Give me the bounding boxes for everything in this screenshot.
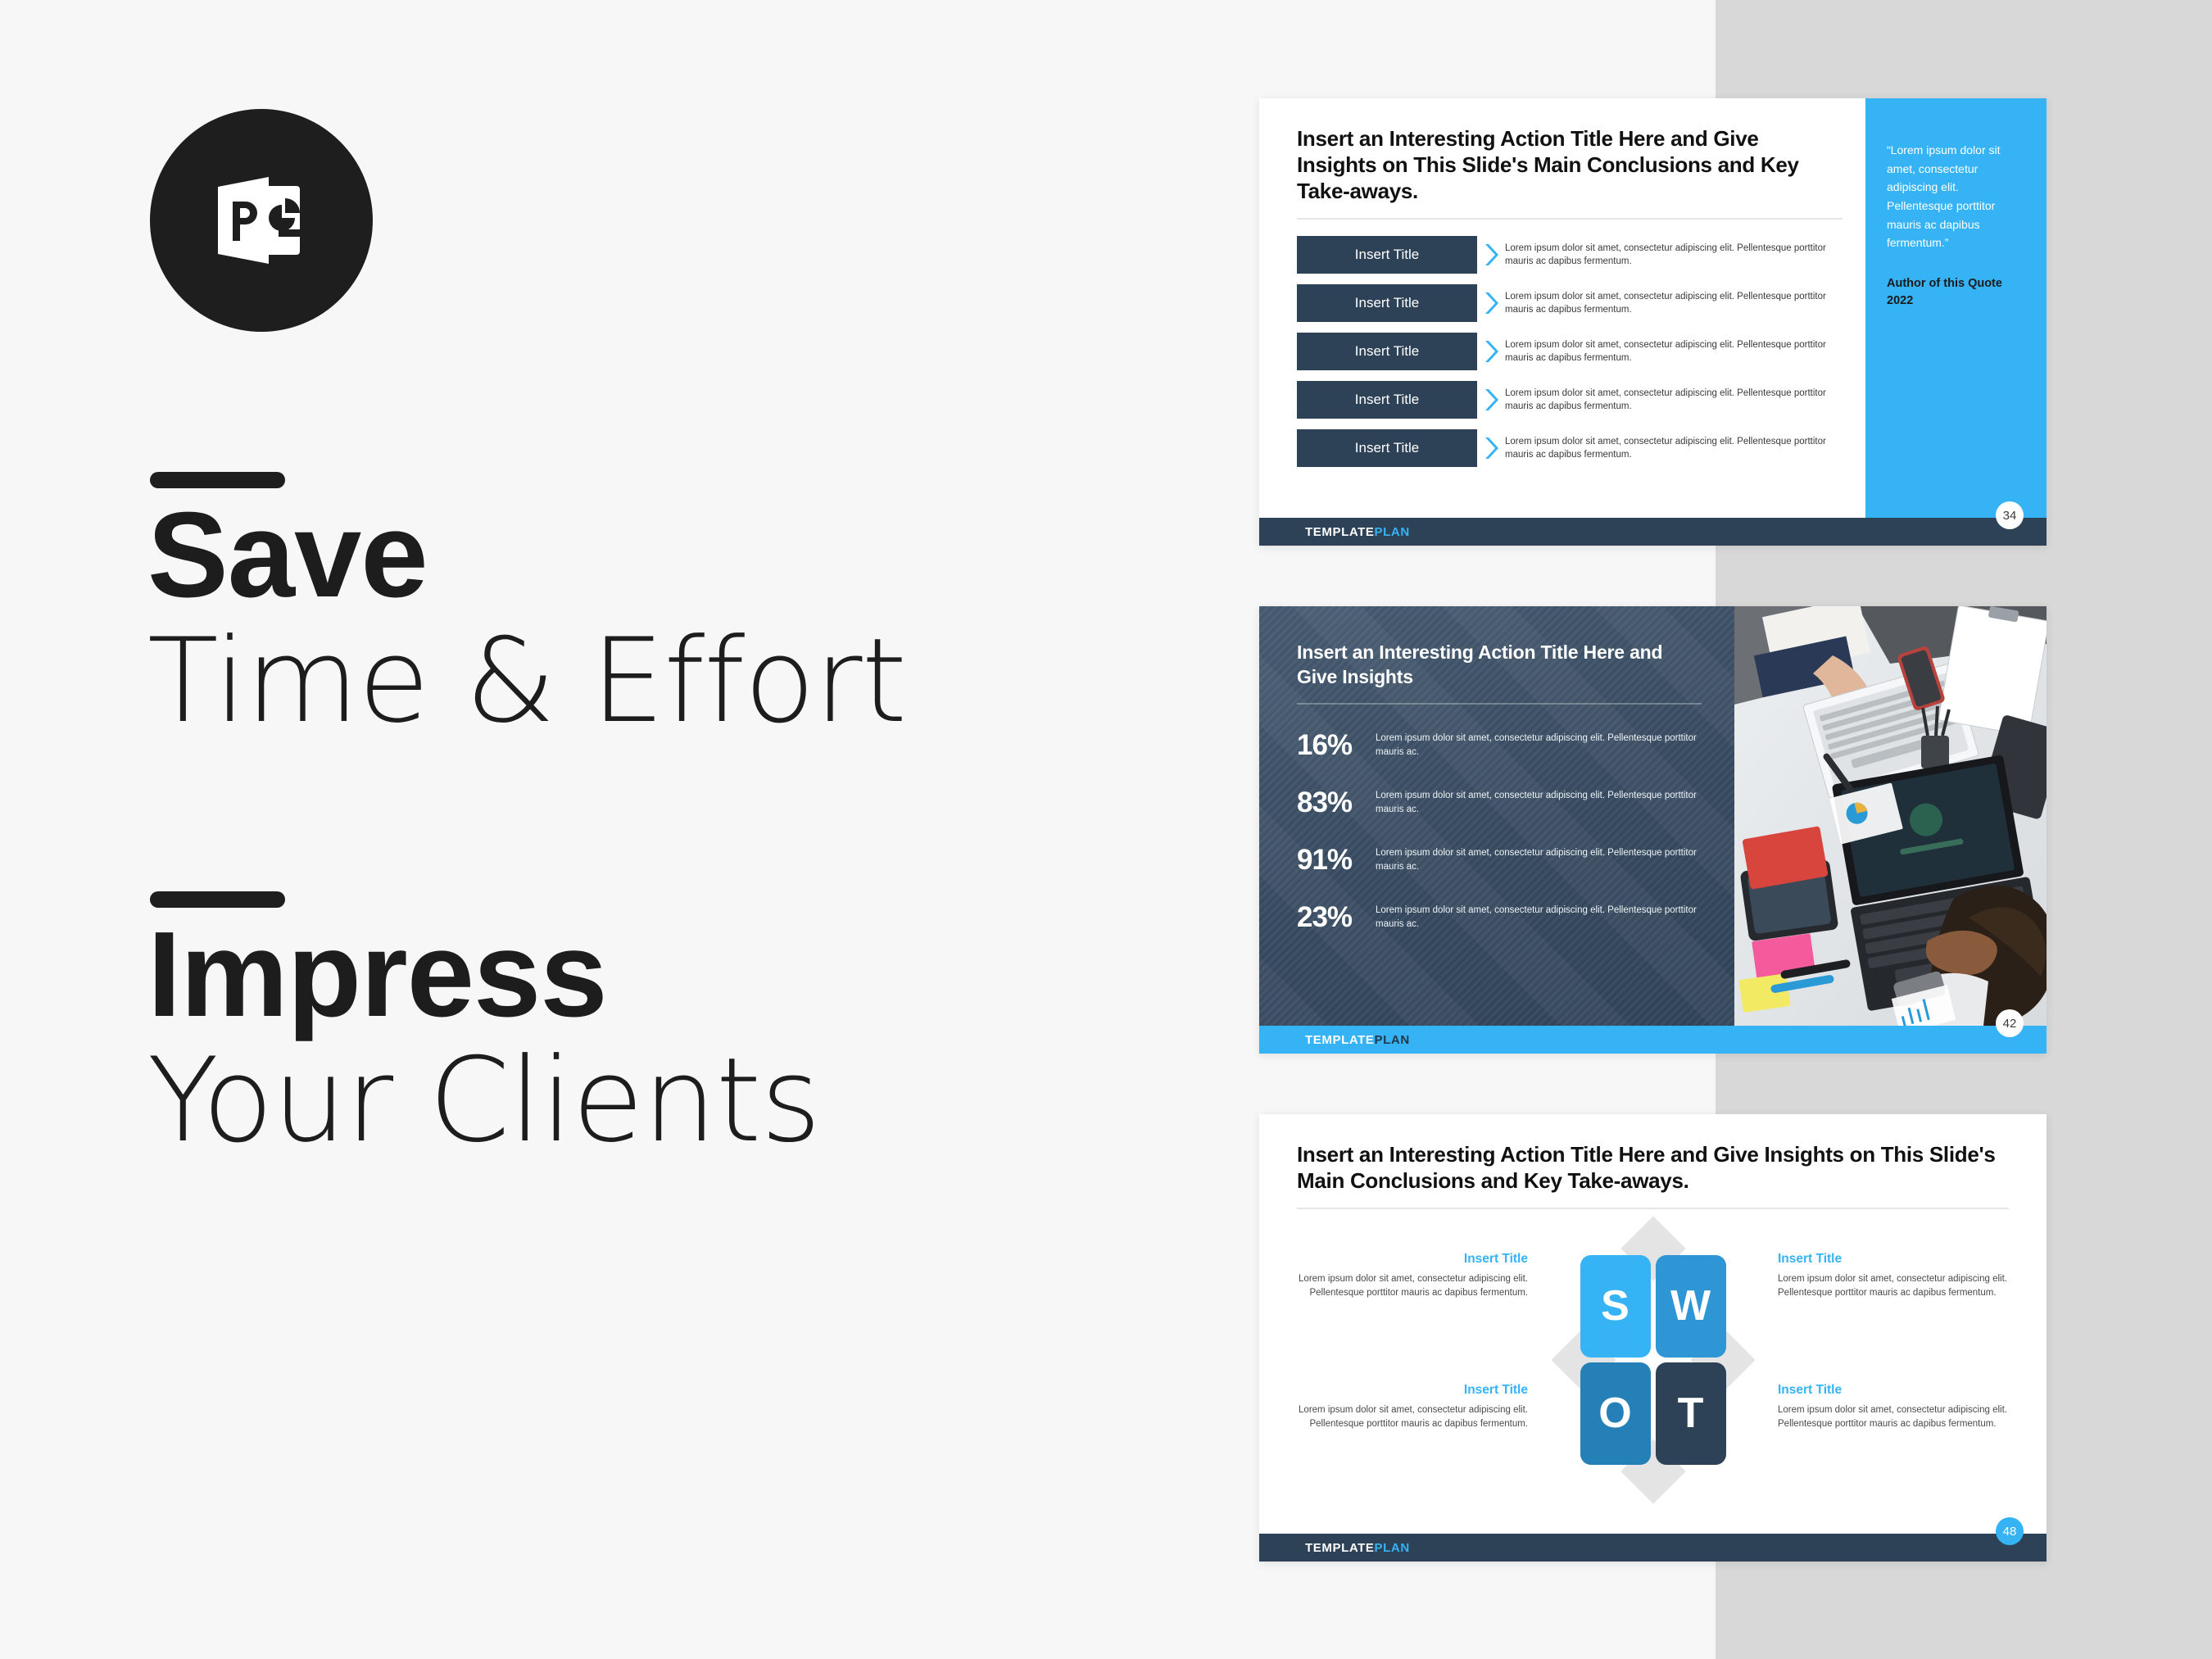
list-item-text: Lorem ipsum dolor sit amet, consectetur … <box>1505 435 1843 462</box>
insert-title-pill[interactable]: Insert Title <box>1297 333 1477 370</box>
headline-rule-1 <box>150 472 285 488</box>
headline-impress-strong: Impress <box>147 911 820 1038</box>
swot-cell-s[interactable]: S <box>1580 1255 1651 1358</box>
list-item-text: Lorem ipsum dolor sit amet, consectetur … <box>1505 387 1843 414</box>
headline-save: Save Time & Effort <box>147 492 906 745</box>
brand-part-1: TEMPLATE <box>1305 1541 1375 1555</box>
chevron-right-icon <box>1477 338 1505 365</box>
quadrant-title: Insert Title <box>1778 1252 2009 1267</box>
slide-2-divider <box>1297 703 1702 705</box>
slide-3-content: Insert an Interesting Action Title Here … <box>1259 1114 2047 1562</box>
list-item[interactable]: Insert Title Lorem ipsum dolor sit amet,… <box>1297 333 1843 370</box>
slide-1-footer: TEMPLATEPLAN <box>1259 518 2047 546</box>
headline-impress-light: Your Clients <box>147 1038 820 1163</box>
list-item-text: Lorem ipsum dolor sit amet, consectetur … <box>1505 242 1843 269</box>
page-number-badge: 42 <box>1996 1009 2024 1037</box>
headline-impress: Impress Your Clients <box>147 911 820 1164</box>
chevron-right-icon <box>1477 387 1505 413</box>
swot-cell-o[interactable]: O <box>1580 1362 1651 1465</box>
quadrant-text: Lorem ipsum dolor sit amet, consectetur … <box>1297 1272 1528 1299</box>
quadrant-title: Insert Title <box>1297 1383 1528 1398</box>
page-number-badge: 48 <box>1996 1517 2024 1545</box>
swot-quadrant-strengths: Insert Title Lorem ipsum dolor sit amet,… <box>1297 1252 1528 1299</box>
list-item[interactable]: Insert Title Lorem ipsum dolor sit amet,… <box>1297 236 1843 274</box>
headline-rule-2 <box>150 891 285 908</box>
slide-2-stat-list: 16% Lorem ipsum dolor sit amet, consecte… <box>1297 729 1702 934</box>
slide-3-title: Insert an Interesting Action Title Here … <box>1297 1142 2009 1194</box>
insert-title-pill[interactable]: Insert Title <box>1297 381 1477 419</box>
brand-part-2: PLAN <box>1375 525 1410 539</box>
list-item[interactable]: Insert Title Lorem ipsum dolor sit amet,… <box>1297 429 1843 467</box>
stat-description: Lorem ipsum dolor sit amet, consectetur … <box>1376 904 1702 931</box>
swot-quadrant-opportunities: Insert Title Lorem ipsum dolor sit amet,… <box>1297 1383 1528 1430</box>
list-item-text: Lorem ipsum dolor sit amet, consectetur … <box>1505 290 1843 317</box>
swot-cell-t[interactable]: T <box>1656 1362 1726 1465</box>
stat-description: Lorem ipsum dolor sit amet, consectetur … <box>1376 732 1702 759</box>
slide-preview-3[interactable]: Insert an Interesting Action Title Here … <box>1259 1114 2047 1562</box>
slide-preview-2[interactable]: Insert an Interesting Action Title Here … <box>1259 606 2047 1054</box>
slide-1-quote-panel: “Lorem ipsum dolor sit amet, consectetur… <box>1865 98 2047 518</box>
brand-logo: TEMPLATEPLAN <box>1305 1541 1410 1555</box>
quote-text: “Lorem ipsum dolor sit amet, consectetur… <box>1887 141 2025 252</box>
quote-author: Author of this Quote 2022 <box>1887 275 2025 310</box>
stat-value: 91% <box>1297 844 1376 877</box>
list-item[interactable]: Insert Title Lorem ipsum dolor sit amet,… <box>1297 381 1843 419</box>
quadrant-title: Insert Title <box>1297 1252 1528 1267</box>
quadrant-text: Lorem ipsum dolor sit amet, consectetur … <box>1778 1403 2009 1430</box>
brand-logo: TEMPLATEPLAN <box>1305 525 1410 539</box>
slide-1-title: Insert an Interesting Action Title Here … <box>1297 126 1843 205</box>
stat-value: 83% <box>1297 786 1376 819</box>
slide-preview-1[interactable]: Insert an Interesting Action Title Here … <box>1259 98 2047 546</box>
list-item[interactable]: Insert Title Lorem ipsum dolor sit amet,… <box>1297 284 1843 322</box>
swot-letter-grid: S W O T <box>1580 1237 1726 1483</box>
list-item: 23% Lorem ipsum dolor sit amet, consecte… <box>1297 901 1702 934</box>
stat-value: 16% <box>1297 729 1376 762</box>
quadrant-text: Lorem ipsum dolor sit amet, consectetur … <box>1297 1403 1528 1430</box>
slide-1-divider <box>1297 218 1843 220</box>
swot-quadrant-weaknesses: Insert Title Lorem ipsum dolor sit amet,… <box>1778 1252 2009 1299</box>
swot-diagram: Insert Title Lorem ipsum dolor sit amet,… <box>1297 1237 2009 1483</box>
brand-logo: TEMPLATEPLAN <box>1305 1033 1410 1047</box>
slide-1-row-list: Insert Title Lorem ipsum dolor sit amet,… <box>1297 236 1843 467</box>
chevron-right-icon <box>1477 290 1505 316</box>
list-item: 83% Lorem ipsum dolor sit amet, consecte… <box>1297 786 1702 819</box>
headline-save-strong: Save <box>147 492 906 619</box>
chevron-right-icon <box>1477 242 1505 268</box>
powerpoint-logo-icon <box>150 109 373 332</box>
insert-title-pill[interactable]: Insert Title <box>1297 429 1477 467</box>
slide-2-footer: TEMPLATEPLAN <box>1259 1026 2047 1054</box>
page-number-badge: 34 <box>1996 501 2024 529</box>
insert-title-pill[interactable]: Insert Title <box>1297 284 1477 322</box>
swot-cell-w[interactable]: W <box>1656 1255 1726 1358</box>
slide-3-footer: TEMPLATEPLAN <box>1259 1534 2047 1562</box>
slide-1-content: Insert an Interesting Action Title Here … <box>1259 98 1865 518</box>
quadrant-title: Insert Title <box>1778 1383 2009 1398</box>
list-item: 16% Lorem ipsum dolor sit amet, consecte… <box>1297 729 1702 762</box>
list-item: 91% Lorem ipsum dolor sit amet, consecte… <box>1297 844 1702 877</box>
swot-quadrant-threats: Insert Title Lorem ipsum dolor sit amet,… <box>1778 1383 2009 1430</box>
stat-value: 23% <box>1297 901 1376 934</box>
quadrant-text: Lorem ipsum dolor sit amet, consectetur … <box>1778 1272 2009 1299</box>
brand-part-2: PLAN <box>1375 1033 1410 1047</box>
brand-part-1: TEMPLATE <box>1305 525 1375 539</box>
team-working-on-laptops-photo <box>1734 606 2047 1026</box>
slide-2-title: Insert an Interesting Action Title Here … <box>1297 641 1702 690</box>
list-item-text: Lorem ipsum dolor sit amet, consectetur … <box>1505 338 1843 365</box>
slide-3-divider <box>1297 1208 2009 1209</box>
stat-description: Lorem ipsum dolor sit amet, consectetur … <box>1376 846 1702 873</box>
slide-2-content: Insert an Interesting Action Title Here … <box>1259 606 1734 1026</box>
brand-part-1: TEMPLATE <box>1305 1033 1375 1047</box>
stat-description: Lorem ipsum dolor sit amet, consectetur … <box>1376 789 1702 816</box>
chevron-right-icon <box>1477 435 1505 461</box>
insert-title-pill[interactable]: Insert Title <box>1297 236 1477 274</box>
brand-part-2: PLAN <box>1375 1541 1410 1555</box>
headline-save-light: Time & Effort <box>147 619 906 744</box>
